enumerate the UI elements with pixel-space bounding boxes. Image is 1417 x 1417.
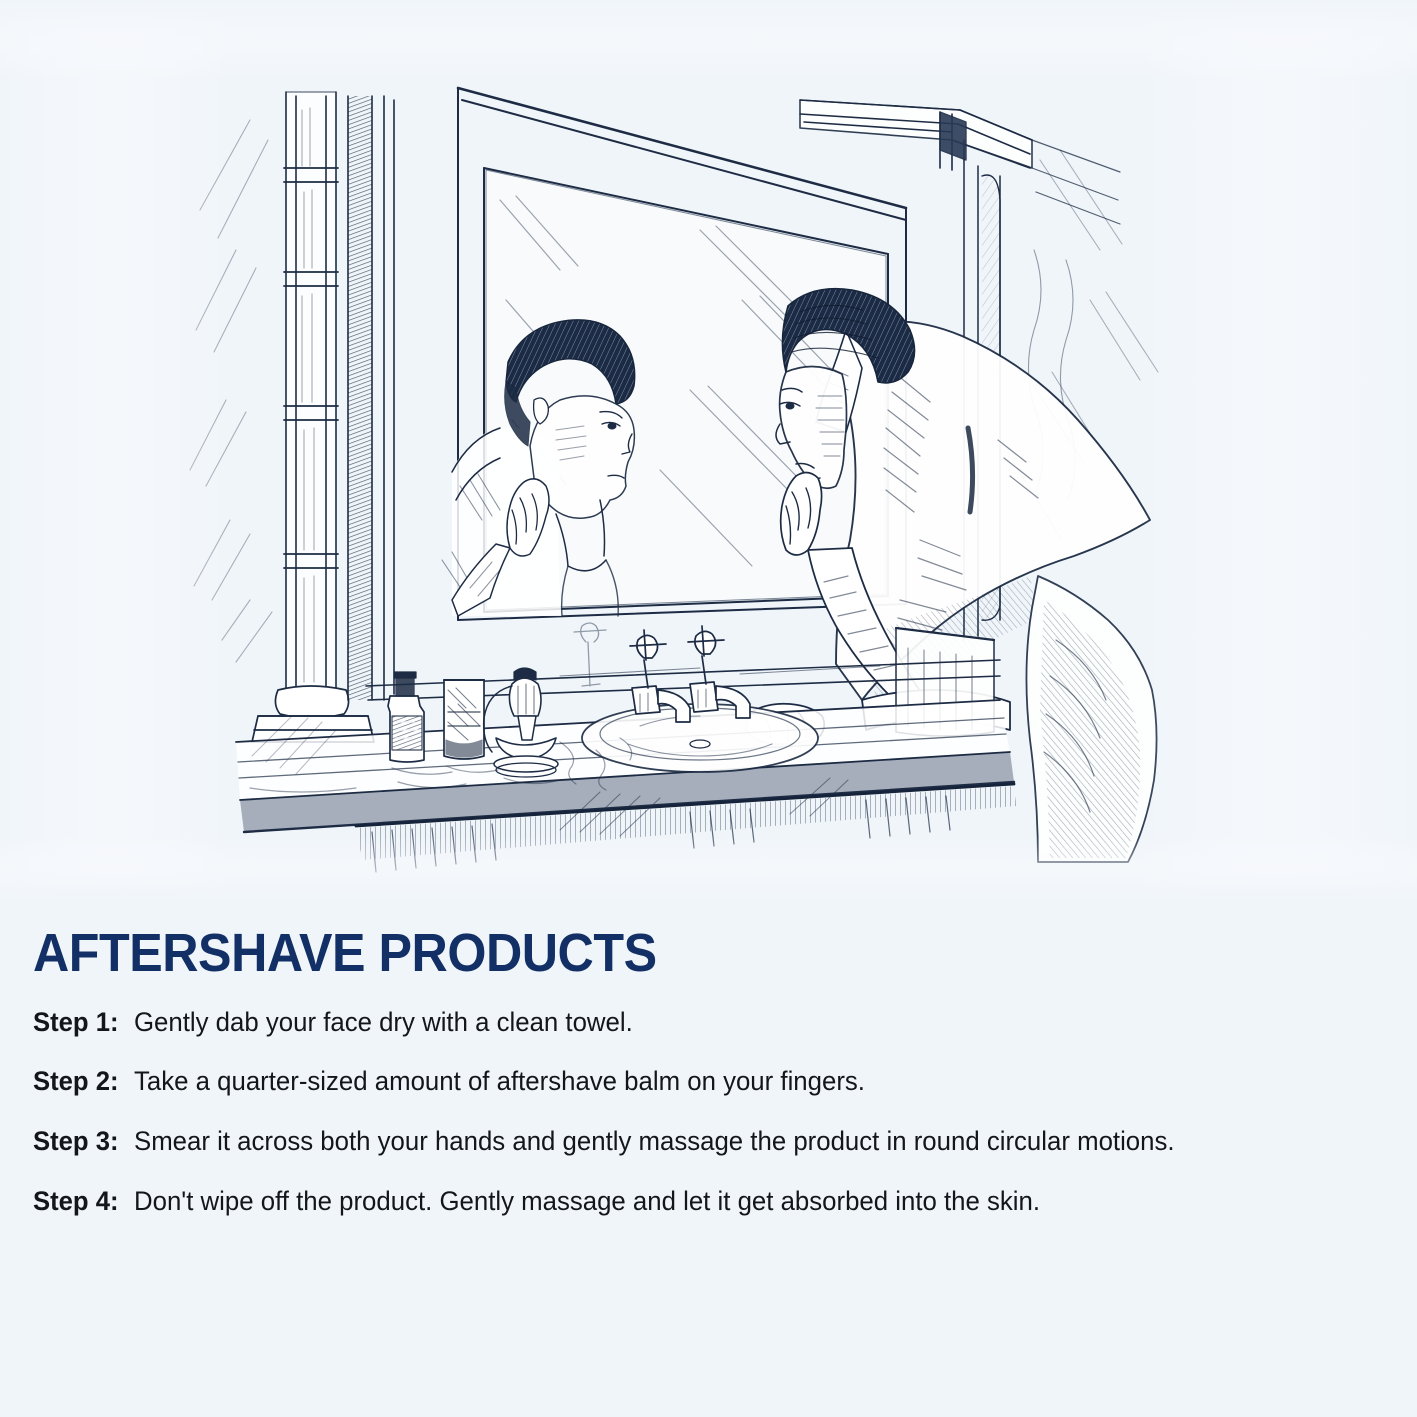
list-item: Step 2: Take a quarter-sized amount of a… [33,1063,1383,1101]
step-text: Don't wipe off the product. Gently massa… [134,1183,1327,1221]
step-text: Smear it across both your hands and gent… [134,1123,1253,1161]
step-label: Step 4: [33,1183,129,1221]
page-title: AFTERSHAVE PRODUCTS [33,925,1289,982]
step-label: Step 2: [33,1063,129,1101]
step-text: Take a quarter-sized amount of aftershav… [134,1063,1327,1101]
list-item: Step 1: Gently dab your face dry with a … [33,1004,1383,1042]
steps-list: Step 1: Gently dab your face dry with a … [33,1004,1383,1221]
step-label: Step 3: [33,1123,129,1161]
step-label: Step 1: [33,1004,129,1042]
step-text: Gently dab your face dry with a clean to… [134,1004,1327,1042]
bathroom-shaving-illustration [0,0,1417,900]
caption-block: AFTERSHAVE PRODUCTS Step 1: Gently dab y… [33,925,1383,1221]
list-item: Step 4: Don't wipe off the product. Gent… [33,1183,1383,1221]
list-item: Step 3: Smear it across both your hands … [33,1123,1383,1161]
poster-page: AFTERSHAVE PRODUCTS Step 1: Gently dab y… [0,0,1417,1417]
